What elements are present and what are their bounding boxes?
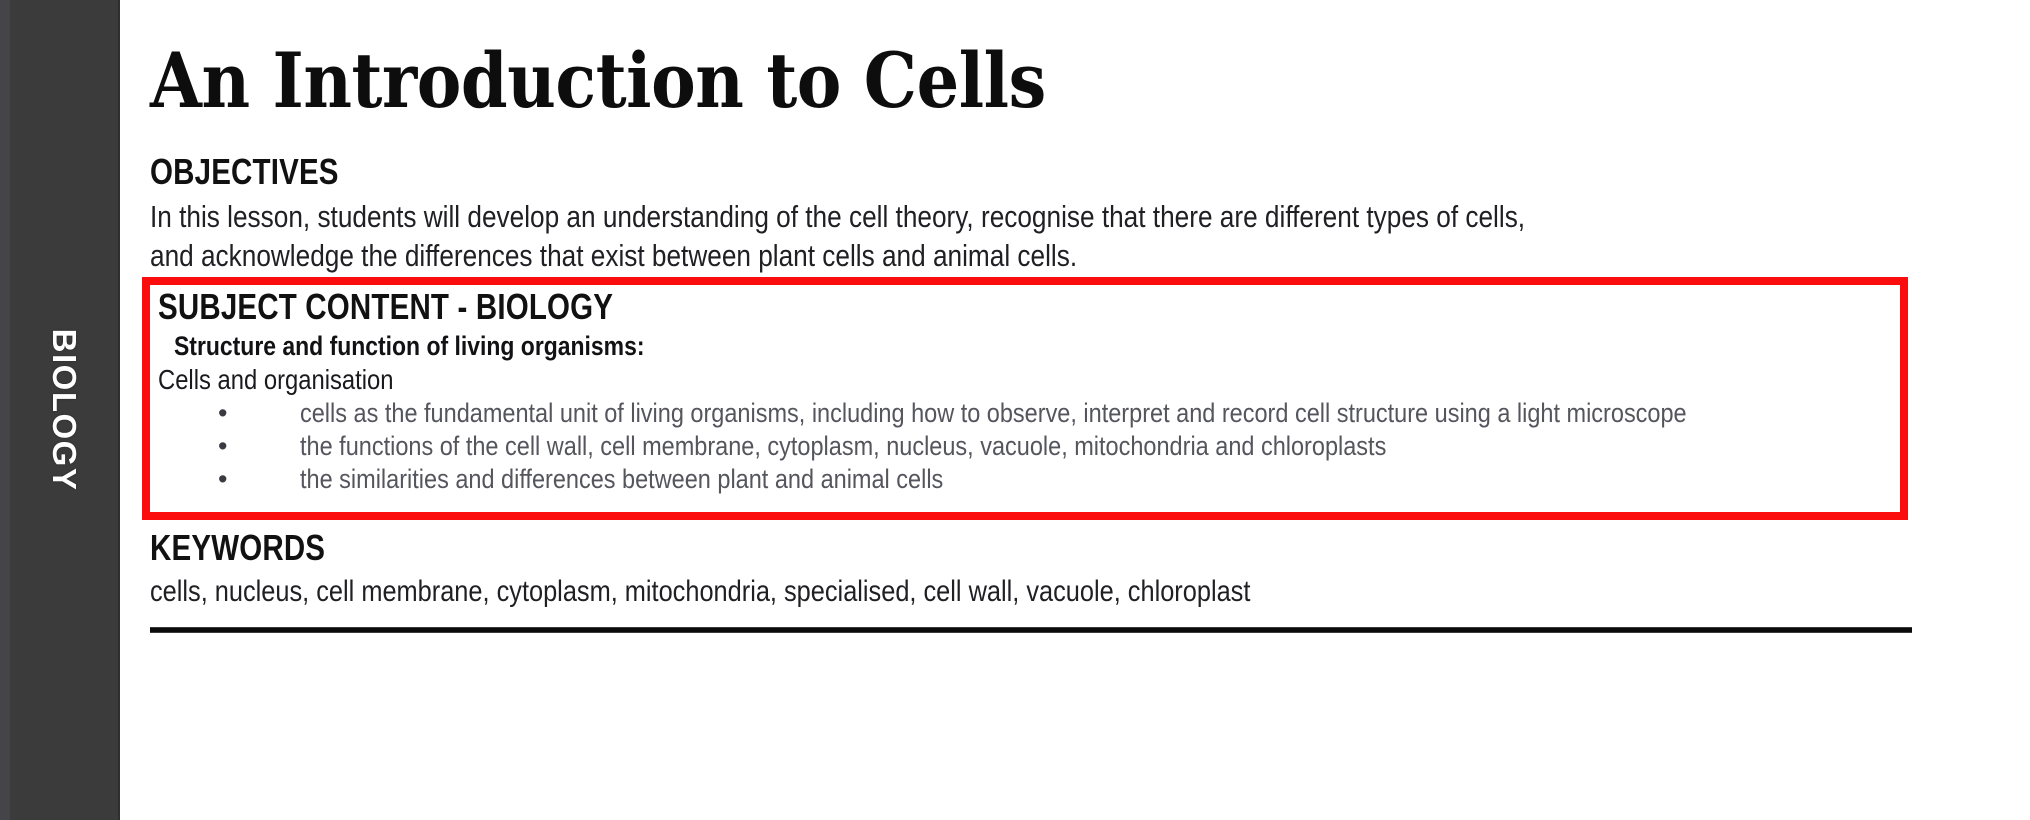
section-divider — [150, 627, 1912, 633]
document-content: An Introduction to Cells OBJECTIVES In t… — [148, 0, 2028, 820]
sidebar-subject-label: BIOLOGY — [45, 329, 83, 492]
page-title: An Introduction to Cells — [150, 38, 1046, 124]
objectives-body-text: In this lesson, students will develop an… — [150, 197, 1536, 275]
keywords-body-text: cells, nucleus, cell membrane, cytoplasm… — [150, 573, 1587, 611]
bullet-dot-icon: • — [218, 430, 227, 463]
list-item-text: the similarities and differences between… — [300, 463, 1857, 496]
subject-content-bullet-list: • cells as the fundamental unit of livin… — [196, 397, 1856, 496]
bullet-dot-icon: • — [218, 397, 227, 430]
list-item-text: the functions of the cell wall, cell mem… — [300, 430, 1857, 463]
lesson-plan-page: BIOLOGY An Introduction to Cells OBJECTI… — [0, 0, 2030, 820]
objectives-heading: OBJECTIVES — [150, 152, 339, 192]
subject-content-subheading-bold: Structure and function of living organis… — [174, 330, 645, 362]
subject-content-heading: SUBJECT CONTENT - BIOLOGY — [158, 287, 613, 327]
subject-sidebar: BIOLOGY — [0, 0, 120, 820]
subject-content-subheading: Cells and organisation — [158, 363, 394, 396]
list-item-text: cells as the fundamental unit of living … — [300, 397, 1857, 430]
bullet-dot-icon: • — [218, 463, 227, 496]
list-item: • the similarities and differences betwe… — [196, 463, 1856, 496]
list-item: • cells as the fundamental unit of livin… — [196, 397, 1856, 430]
list-item: • the functions of the cell wall, cell m… — [196, 430, 1856, 463]
subject-content-highlight-box: SUBJECT CONTENT - BIOLOGY Structure and … — [142, 277, 1908, 520]
keywords-heading: KEYWORDS — [150, 528, 325, 568]
